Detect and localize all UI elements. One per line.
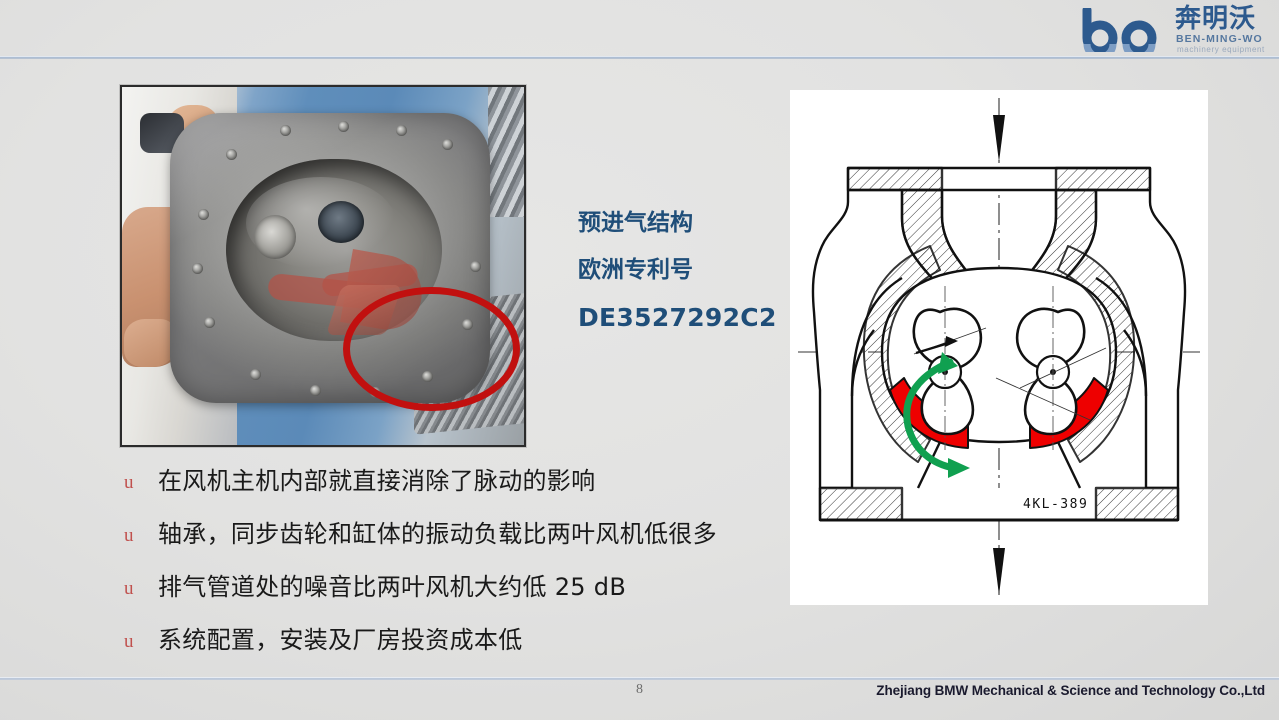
bo-monogram-icon [1081,8,1173,52]
photo-operator-hand [124,319,176,367]
photo-bolt-hole [250,369,261,380]
patent-caption: 预进气结构 欧洲专利号 DE3527292C2 [578,200,793,341]
photo-bolt-hole [442,139,453,150]
photo-shaft-bore-left [254,215,296,259]
down-arrow-icon [993,115,1005,162]
down-arrow-icon [993,548,1005,595]
photo-bolt-hole [338,121,349,132]
slide-canvas: 奔明沃 BEN-MING-WO machinery equipment [0,0,1279,720]
bullet-text: 排气管道处的噪音比两叶风机大约低 25 dB [158,570,626,604]
bullet-marker-icon: u [124,472,134,494]
tri-lobe-blower-cross-section-drawing: 4KL-389 [790,90,1208,605]
bullet-marker-icon: u [124,578,134,600]
footer-company-name: Zhejiang BMW Mechanical & Science and Te… [876,683,1265,698]
photo-bolt-hole [470,261,481,272]
caption-patent-number: DE3527292C2 [578,294,793,341]
header-divider-shadow [0,58,1279,59]
photo-hoist-chain [488,87,524,217]
caption-line-1: 预进气结构 [578,200,793,247]
red-ellipse-highlight-icon [343,287,520,411]
list-item: u 在风机主机内部就直接消除了脉动的影响 [118,462,758,515]
footer-divider [0,677,1279,680]
photo-bolt-hole [204,317,215,328]
photo-bolt-hole [226,149,237,160]
caption-line-2: 欧洲专利号 [578,247,793,294]
logo-english-name: BEN-MING-WO [1176,33,1263,45]
feature-bullet-list: u 在风机主机内部就直接消除了脉动的影响 u 轴承，同步齿轮和缸体的振动负载比两… [118,462,758,674]
photo-bolt-hole [310,385,321,396]
logo-tagline: machinery equipment [1177,45,1265,55]
bullet-marker-icon: u [124,525,134,547]
photo-bolt-hole [198,209,209,220]
drawing-svg [790,90,1208,605]
photo-bolt-hole [396,125,407,136]
blower-casing-photo [120,85,526,447]
photo-shaft-bore-right [318,201,364,243]
bullet-text: 系统配置，安装及厂房投资成本低 [158,623,523,657]
logo-chinese-name: 奔明沃 [1175,4,1256,34]
list-item: u 排气管道处的噪音比两叶风机大约低 25 dB [118,568,758,621]
drawing-part-label: 4KL-389 [1023,497,1088,512]
photo-bolt-hole [280,125,291,136]
photo-bolt-hole [192,263,203,274]
bullet-marker-icon: u [124,631,134,653]
bullet-text: 轴承，同步齿轮和缸体的振动负载比两叶风机低很多 [158,517,717,551]
bullet-text: 在风机主机内部就直接消除了脉动的影响 [158,464,595,498]
company-logo: 奔明沃 BEN-MING-WO machinery equipment [1079,2,1271,58]
list-item: u 轴承，同步齿轮和缸体的振动负载比两叶风机低很多 [118,515,758,568]
list-item: u 系统配置，安装及厂房投资成本低 [118,621,758,674]
